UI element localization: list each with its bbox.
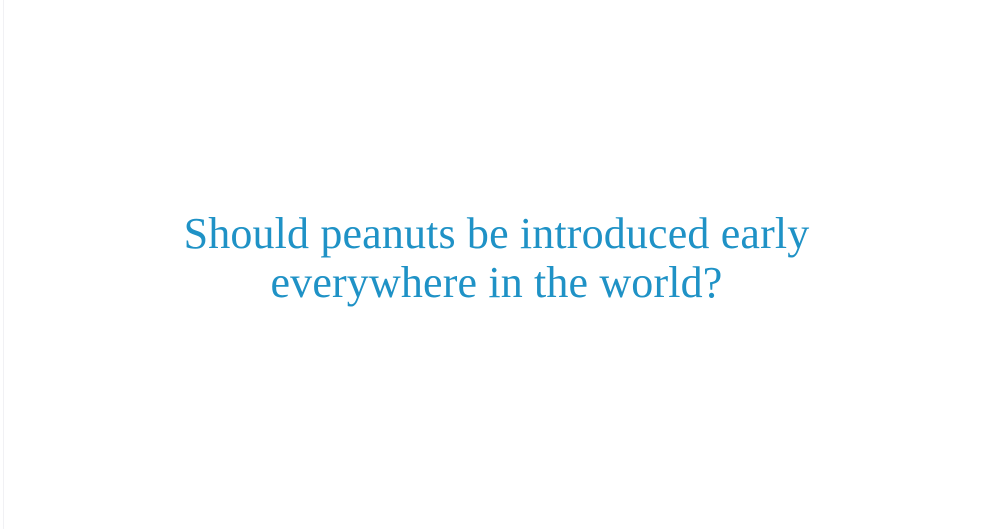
headline-line-1: Should peanuts be introduced early <box>184 209 810 258</box>
slide-canvas: Should peanuts be introduced early every… <box>0 0 993 529</box>
page-title: Should peanuts be introduced early every… <box>184 209 810 307</box>
headline-block: Should peanuts be introduced early every… <box>0 0 993 529</box>
headline-line-2: everywhere in the world? <box>184 258 810 307</box>
